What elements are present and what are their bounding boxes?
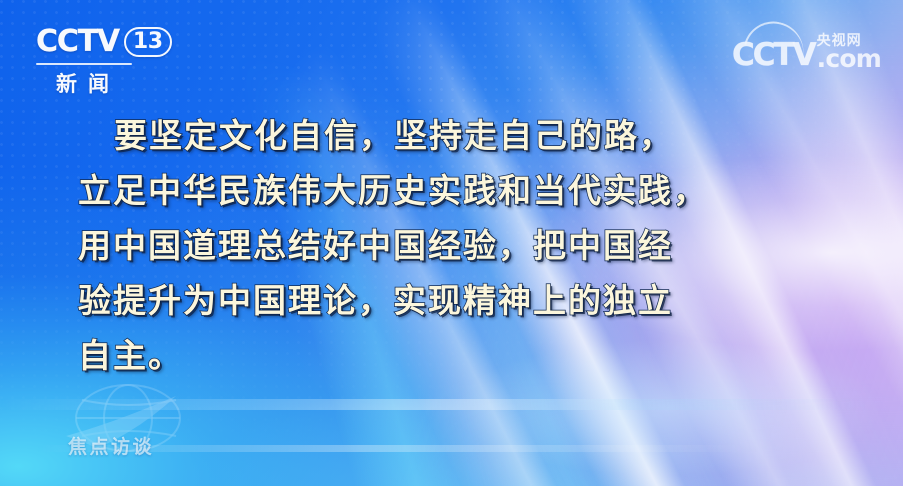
channel-number-badge: 13 xyxy=(124,27,172,57)
quote-line-4: 验提升为中国理论，实现精神上的独立 xyxy=(58,273,845,328)
watermark-domain-label: .com xyxy=(817,48,881,71)
channel-name-label: 新闻 xyxy=(36,68,178,98)
channel-bug-underline xyxy=(36,63,132,65)
cctv13-channel-logo: CCTV 13 新闻 xyxy=(36,22,178,84)
cctv-com-watermark: CCTV 央视网 .com xyxy=(732,20,881,70)
program-name-watermark: 焦点访谈 xyxy=(68,432,154,459)
watermark-right-stack: 央视网 .com xyxy=(817,34,881,70)
quote-line-1: 要坚定文化自信，坚持走自己的路， xyxy=(58,108,845,163)
quote-line-5: 自主。 xyxy=(58,328,845,383)
quote-line-3: 用中国道理总结好中国经验，把中国经 xyxy=(58,218,845,273)
channel-bug-row: CCTV 13 xyxy=(36,22,178,62)
quote-text-block: 要坚定文化自信，坚持走自己的路， 立足中华民族伟大历史实践和当代实践， 用中国道… xyxy=(0,108,903,383)
quote-line-2: 立足中华民族伟大历史实践和当代实践， xyxy=(58,163,845,218)
channel-network-label: CCTV xyxy=(36,27,119,57)
broadcast-frame: CCTV 13 新闻 CCTV 央视网 .com 要坚定文化自信，坚持走自己的路… xyxy=(0,0,903,486)
channel-number-label: 13 xyxy=(133,31,163,53)
